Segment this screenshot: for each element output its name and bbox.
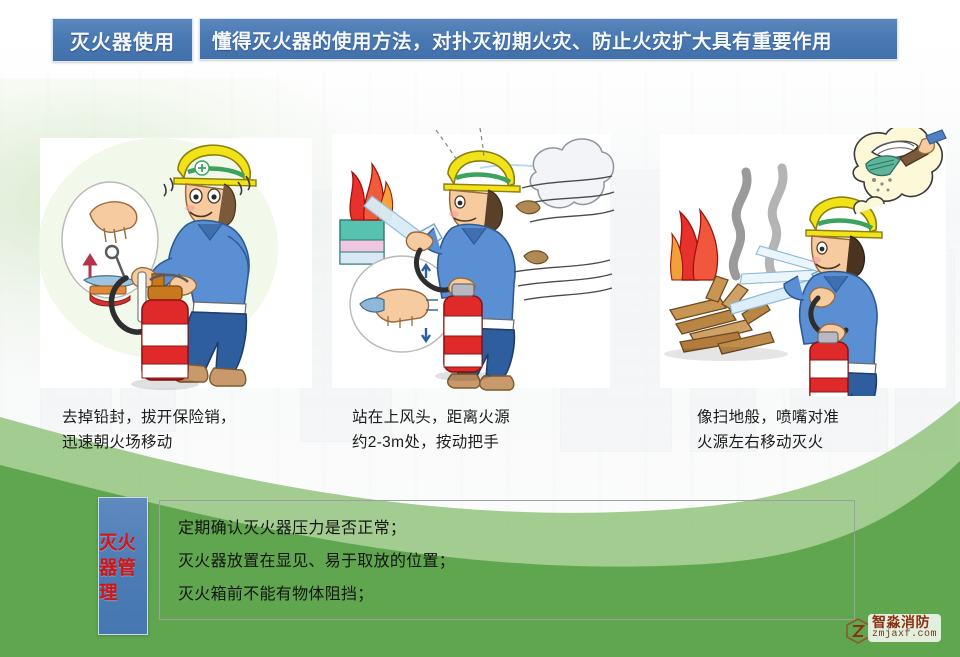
management-label-text: 灭火器管理: [99, 530, 147, 605]
panel-pull-pin: [38, 128, 320, 396]
slide-root: 灭火器使用 懂得灭火器的使用方法，对扑灭初期火灾、防止火灾扩大具有重要作用: [0, 0, 960, 657]
panel-sweep: [660, 128, 950, 396]
panel-caption-2: 站在上风头，距离火源 约2-3m处，按动把手: [352, 405, 614, 455]
illustration-pull-pin: [38, 128, 320, 396]
management-rule-item: 灭火器放置在显见、易于取放的位置；: [178, 545, 798, 578]
management-rule-item: 灭火箱前不能有物体阻挡；: [178, 578, 798, 611]
panel-caption-1: 去掉铅封，拔开保险销， 迅速朝火场移动: [62, 405, 322, 455]
header-banner-text: 懂得灭火器的使用方法，对扑灭初期火灾、防止火灾扩大具有重要作用: [212, 25, 832, 54]
watermark-brand: 智淼消防: [872, 615, 937, 629]
illustration-panels: [0, 128, 960, 398]
management-rule-item: 定期确认灭火器压力是否正常；: [178, 512, 798, 545]
header-tag-label: 灭火器使用: [70, 26, 175, 55]
watermark-logo-icon: [846, 618, 870, 644]
panel-caption-3: 像扫地般，喷嘴对准 火源左右移动灭火: [697, 405, 959, 455]
management-vertical-label: 灭火器管理: [98, 497, 148, 635]
management-rules-list: 定期确认灭火器压力是否正常； 灭火器放置在显见、易于取放的位置； 灭火箱前不能有…: [178, 512, 798, 611]
header-banner: 懂得灭火器的使用方法，对扑灭初期火灾、防止火灾扩大具有重要作用: [199, 18, 898, 60]
header-tag: 灭火器使用: [52, 18, 193, 62]
watermark: 智淼消防 zmjaxf.com: [846, 614, 954, 648]
illustration-aim-upwind: [330, 128, 615, 396]
header: 灭火器使用 懂得灭火器的使用方法，对扑灭初期火灾、防止火灾扩大具有重要作用: [0, 18, 960, 64]
illustration-sweep: [660, 128, 950, 396]
panel-aim-upwind: [330, 128, 615, 396]
watermark-badge: 智淼消防 zmjaxf.com: [868, 614, 941, 642]
watermark-url: zmjaxf.com: [872, 630, 937, 640]
